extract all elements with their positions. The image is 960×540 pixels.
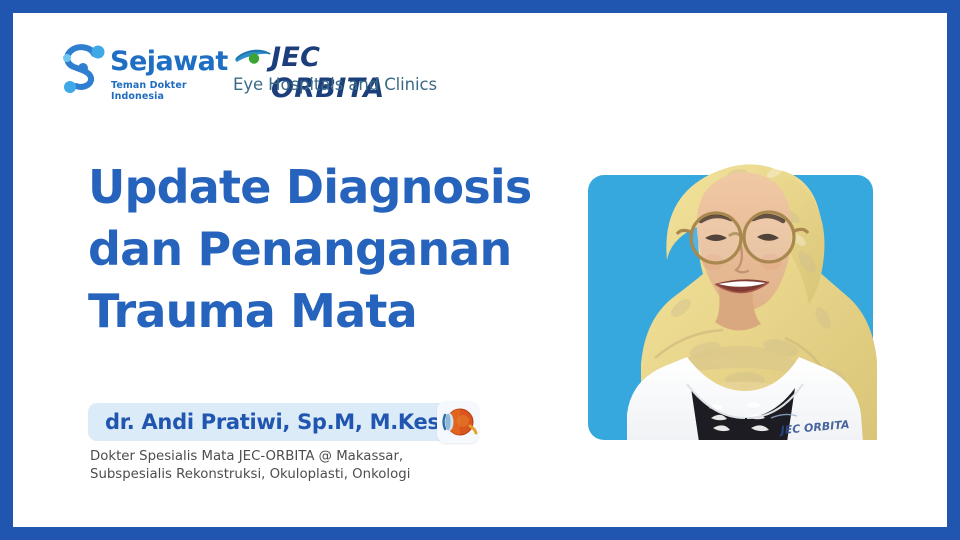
title-line-1: Update Diagnosis	[88, 156, 558, 218]
speaker-name-badge: dr. Andi Pratiwi, Sp.M, M.Kes	[88, 403, 457, 441]
speaker-name: dr. Andi Pratiwi, Sp.M, M.Kes	[105, 410, 440, 434]
slide-canvas: Sejawat Teman Dokter Indonesia JEC ORBIT…	[13, 13, 947, 527]
title-line-3: Trauma Mata	[88, 280, 558, 342]
speaker-credentials: Dokter Spesialis Mata JEC-ORBITA @ Makas…	[90, 448, 510, 484]
sejawat-tagline: Teman Dokter Indonesia	[111, 80, 208, 102]
speaker-portrait-image: JEC ORBITA	[585, 112, 877, 440]
jec-eye-swoosh-icon	[233, 46, 273, 68]
jec-orbita-logo: JEC ORBITA Eye Hospitals and Clinics	[233, 40, 443, 102]
page-title: Update Diagnosis dan Penanganan Trauma M…	[88, 156, 558, 342]
sejawat-wordmark: Sejawat	[110, 46, 228, 77]
credential-line-2: Subspesialis Rekonstruksi, Okuloplasti, …	[90, 466, 510, 484]
credential-line-1: Dokter Spesialis Mata JEC-ORBITA @ Makas…	[90, 448, 510, 466]
speaker-photo: JEC ORBITA	[588, 175, 873, 440]
jec-tagline: Eye Hospitals and Clinics	[233, 75, 437, 94]
title-line-2: dan Penanganan	[88, 218, 558, 280]
sejawat-logo: Sejawat Teman Dokter Indonesia	[58, 40, 208, 102]
jec-wordmark: JEC ORBITA	[271, 42, 443, 104]
anatomical-eyeball-icon	[437, 401, 479, 443]
sejawat-network-s-icon	[58, 42, 108, 94]
slide-frame: Sejawat Teman Dokter Indonesia JEC ORBIT…	[0, 0, 960, 540]
